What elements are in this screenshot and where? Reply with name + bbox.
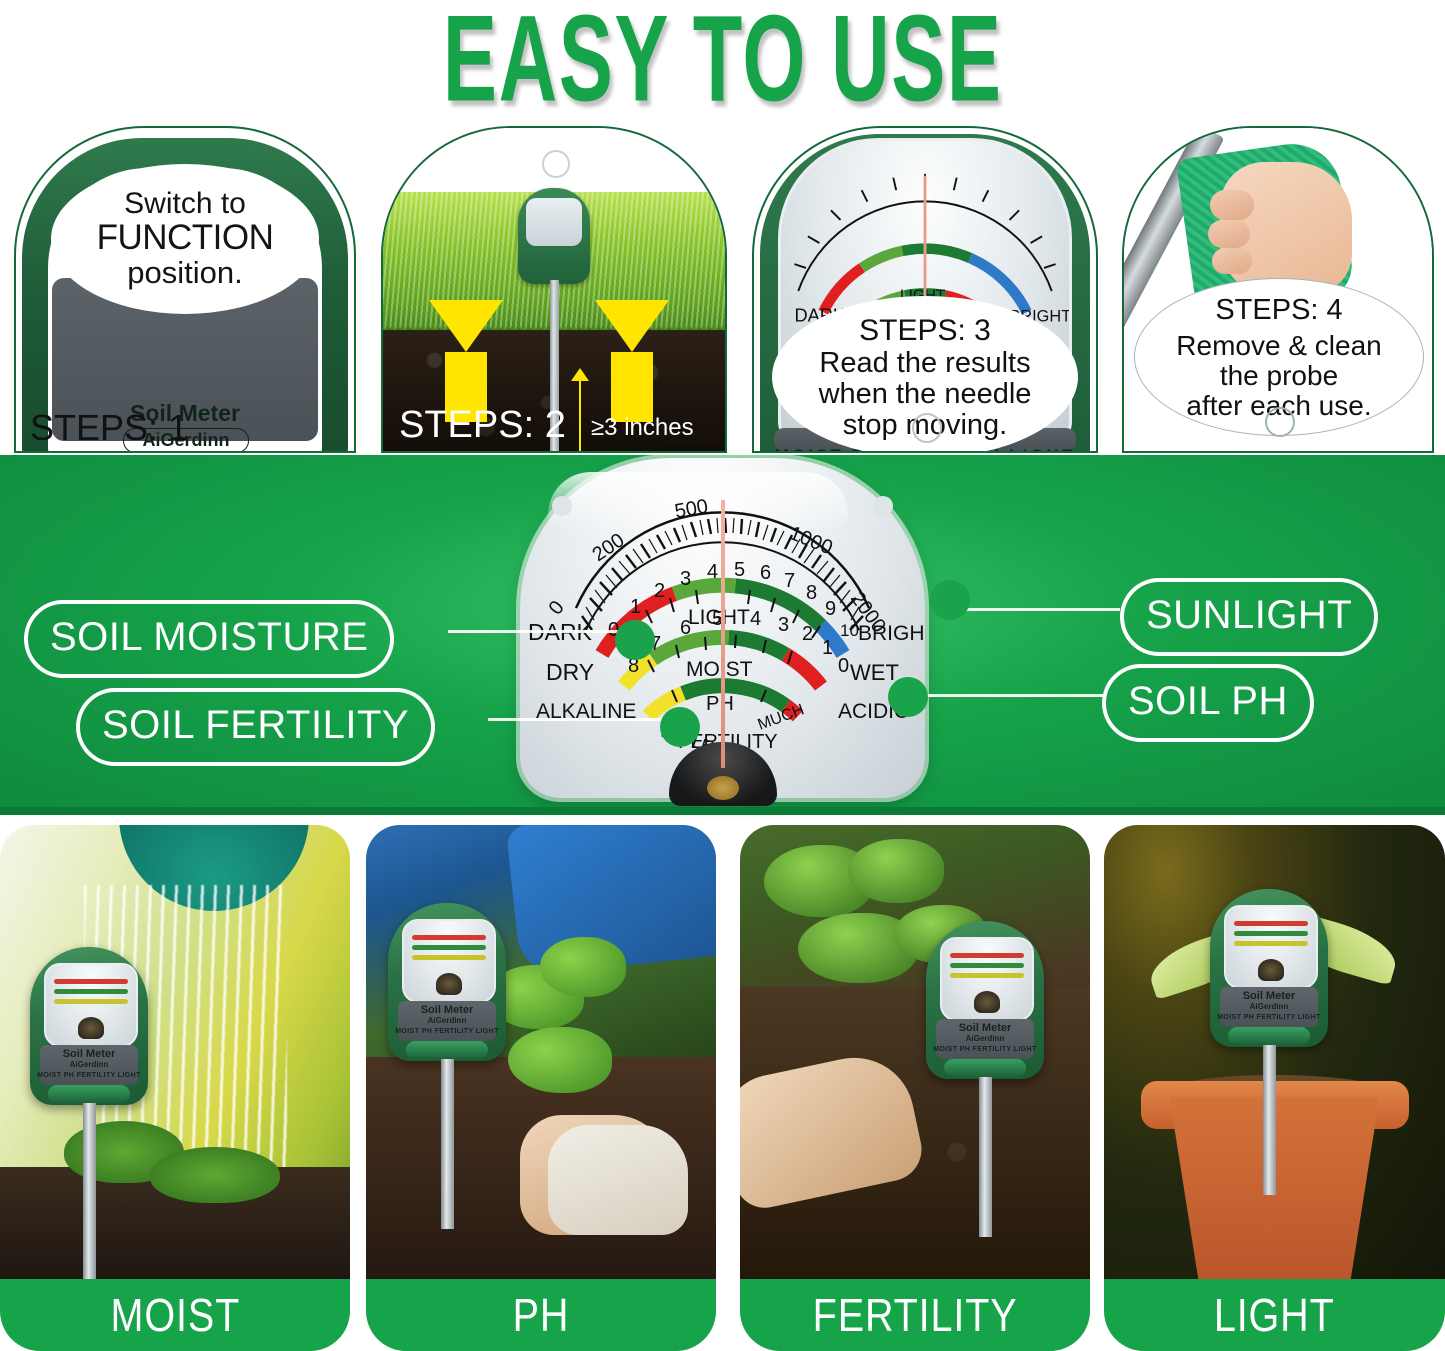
device-mode-labels: MOIST PH FERTILITY LIGHT — [388, 1028, 506, 1035]
step-label-2: STEPS: 2 — [399, 404, 566, 447]
meter-device — [518, 188, 590, 284]
device-sub-brand: AiGerdinn — [30, 1060, 148, 1069]
device-brand: Soil Meter — [388, 1004, 506, 1016]
photo-panel-moist: Soil Meter AiGerdinn MOIST PH FERTILITY … — [0, 825, 350, 1351]
function-switch — [48, 1085, 130, 1103]
callout-bubble-step1: Switch to FUNCTION position. — [51, 164, 319, 314]
caption-fertility: FERTILITY — [740, 1279, 1090, 1351]
meter-dial — [526, 198, 582, 246]
needle-hub — [78, 1017, 104, 1039]
moist-tick-8: 8 — [806, 582, 817, 604]
screw-icon — [1265, 407, 1295, 437]
ph-tick-1: 1 — [822, 637, 833, 659]
step-panel-3: DARK BRIGHT DRY WET ALKALINE ACIDIC LIGH… — [752, 126, 1098, 453]
photo-hands-soil: Soil Meter AiGerdinn MOIST PH FERTILITY … — [366, 825, 716, 1287]
moist-tick-7: 7 — [784, 570, 795, 592]
gauge-dial-large: 0 200 500 1000 2000 0 1 2 3 4 5 6 7 8 — [520, 458, 925, 798]
indicator-dot-sunlight — [930, 580, 970, 620]
moist-tick-3: 3 — [680, 568, 691, 590]
photo-watering: Soil Meter AiGerdinn MOIST PH FERTILITY … — [0, 825, 350, 1287]
ph-tick-4: 4 — [750, 608, 761, 630]
photo-hand-dirt: Soil Meter AiGerdinn MOIST PH FERTILITY … — [740, 825, 1090, 1287]
gauge-needle — [721, 500, 725, 768]
meter-probe — [1263, 1045, 1276, 1195]
device-brand: Soil Meter — [1210, 990, 1328, 1002]
bubble-line-3: position. — [127, 256, 242, 290]
caption-moist: MOIST — [0, 1279, 350, 1351]
step-panel-1: Switch to FUNCTION position. Soil Meter … — [14, 126, 356, 453]
soil-meter-device: Soil Meter AiGerdinn MOIST PH FERTILITY … — [388, 903, 506, 1061]
ph-tick-3: 3 — [778, 614, 789, 636]
device-sub-brand: AiGerdinn — [1210, 1002, 1328, 1011]
down-arrow-icon — [595, 300, 669, 422]
leaf — [150, 1147, 280, 1203]
moist-tick-9: 9 — [825, 598, 836, 620]
gauge-name-light: LIGHT — [688, 606, 750, 629]
bubble-line-2: when the needle — [819, 379, 1032, 410]
caption-text: MOIST — [110, 1288, 240, 1342]
connector-line-sunlight — [960, 608, 1120, 611]
moist-tick-6: 6 — [760, 562, 771, 584]
caption-text: LIGHT — [1214, 1288, 1335, 1342]
function-switch — [1228, 1027, 1310, 1045]
step-label-1: STEPS: 1 — [30, 407, 188, 449]
needle-hub — [1258, 959, 1284, 981]
light-tick-200: 200 — [588, 529, 628, 566]
connector-line-fertility — [488, 718, 688, 721]
gauge-name-moist: MOIST — [686, 658, 753, 681]
moist-tick-1: 1 — [630, 596, 641, 618]
callout-sunlight: SUNLIGHT — [1120, 578, 1378, 656]
photo-panel-light: Soil Meter AiGerdinn MOIST PH FERTILITY … — [1104, 825, 1445, 1351]
device-brand: Soil Meter — [926, 1022, 1044, 1034]
moist-tick-2: 2 — [654, 580, 665, 602]
meter-dial — [44, 963, 138, 1047]
needle-hub — [436, 973, 462, 995]
dial-rivet — [552, 496, 572, 516]
bubble-line-1: Remove & clean — [1176, 331, 1381, 361]
dial-rivet — [873, 496, 893, 516]
meter-probe — [979, 1077, 992, 1237]
caption-text: PH — [513, 1288, 570, 1342]
connector-line-ph — [918, 694, 1104, 697]
indicator-dot-fertility — [660, 707, 700, 747]
meter-dial — [940, 937, 1034, 1021]
photo-panel-ph: Soil Meter AiGerdinn MOIST PH FERTILITY … — [366, 825, 716, 1351]
steps-row: Switch to FUNCTION position. Soil Meter … — [0, 126, 1445, 453]
light-tick-0: 0 — [545, 597, 569, 619]
leaf — [848, 839, 944, 903]
callout-soil-fertility: SOIL FERTILITY — [76, 688, 435, 766]
photo-panels-row: Soil Meter AiGerdinn MOIST PH FERTILITY … — [0, 825, 1445, 1351]
finger — [1208, 220, 1250, 248]
gloved-hand — [548, 1125, 688, 1235]
device-mode-labels: MOIST PH FERTILITY LIGHT — [1210, 1014, 1328, 1021]
connector-line-moisture — [448, 630, 634, 633]
light-tick-500: 500 — [673, 495, 710, 522]
meter-probe — [441, 1059, 454, 1229]
ph-tick-2: 2 — [802, 623, 813, 645]
depth-note: ≥3 inches — [591, 414, 694, 442]
soil-meter-device: Soil Meter AiGerdinn MOIST PH FERTILITY … — [30, 947, 148, 1105]
ph-tick-0: 0 — [838, 655, 849, 677]
gauge-label-bright: BRIGHT — [858, 622, 925, 645]
function-switch — [944, 1059, 1026, 1077]
bubble-line-2: the probe — [1220, 361, 1338, 391]
moist-tick-10: 10 — [840, 621, 859, 640]
banner-bottom-edge — [0, 807, 1445, 815]
bubble-line-1: Read the results — [819, 348, 1030, 379]
device-mode-labels: MOIST PH FERTILITY LIGHT — [30, 1072, 148, 1079]
gauge-label-wet: WET — [850, 660, 899, 685]
device-brand: Soil Meter — [30, 1048, 148, 1060]
gauge-label-dry: DRY — [546, 659, 594, 685]
soil-meter-device: Soil Meter AiGerdinn MOIST PH FERTILITY … — [1210, 889, 1328, 1047]
device-mode-labels: MOIST PH FERTILITY LIGHT — [926, 1046, 1044, 1053]
depth-dimension-line — [579, 380, 581, 453]
meter-probe — [83, 1103, 96, 1283]
step-label-4: STEPS: 4 — [1215, 294, 1342, 327]
page-title: EASY TO USE — [443, 0, 1003, 120]
leaf — [508, 1027, 612, 1093]
step-label-3: STEPS: 3 — [859, 314, 991, 348]
finger — [1212, 248, 1252, 274]
step-panel-4: STEPS: 4 Remove & clean the probe after … — [1122, 126, 1434, 453]
finger — [1210, 190, 1254, 220]
screw-icon — [542, 150, 570, 178]
needle-hub — [974, 991, 1000, 1013]
moist-tick-5: 5 — [734, 559, 745, 581]
photo-potted-plant: Soil Meter AiGerdinn MOIST PH FERTILITY … — [1104, 825, 1445, 1287]
caption-ph: PH — [366, 1279, 716, 1351]
screw-icon — [912, 413, 942, 443]
header: EASY TO USE — [0, 0, 1445, 118]
bubble-line-1: Switch to — [124, 188, 246, 220]
device-sub-brand: AiGerdinn — [926, 1034, 1044, 1043]
photo-panel-fertility: Soil Meter AiGerdinn MOIST PH FERTILITY … — [740, 825, 1090, 1351]
step-panel-2: ≥3 inches STEPS: 2 — [381, 126, 727, 453]
callout-soil-ph: SOIL PH — [1102, 664, 1314, 742]
callout-soil-moisture: SOIL MOISTURE — [24, 600, 394, 678]
moist-tick-4: 4 — [707, 561, 718, 583]
bubble-line-2: FUNCTION — [97, 220, 274, 256]
indicator-dot-moisture — [615, 620, 655, 660]
device-sub-brand: AiGerdinn — [388, 1016, 506, 1025]
leaf — [540, 937, 626, 997]
function-switch — [406, 1041, 488, 1059]
meter-dial — [402, 919, 496, 1003]
indicator-dot-ph — [888, 677, 928, 717]
plant — [478, 935, 667, 1125]
meter-dial — [1224, 905, 1318, 989]
caption-text: FERTILITY — [813, 1288, 1018, 1342]
caption-light: LIGHT — [1104, 1279, 1445, 1351]
soil-meter-device: Soil Meter AiGerdinn MOIST PH FERTILITY … — [926, 921, 1044, 1079]
